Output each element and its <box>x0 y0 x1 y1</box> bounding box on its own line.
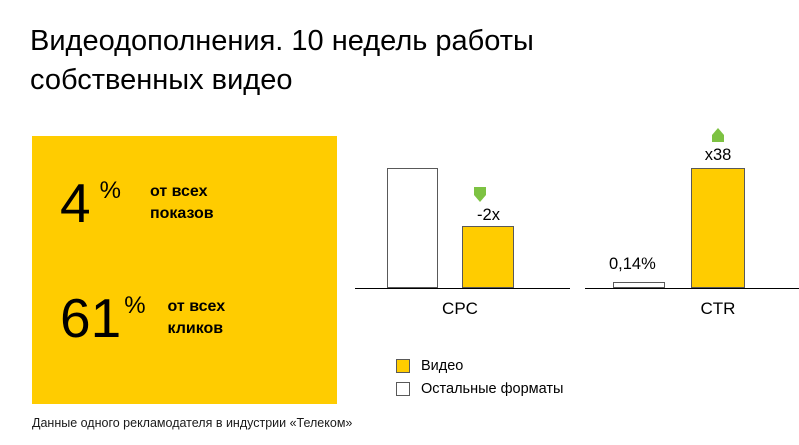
bar-cpc-other-formats <box>387 168 438 288</box>
stat-label-impressions-line1: от всех <box>150 181 214 203</box>
value-label-ctr-other-formats: 0,14% <box>609 254 656 274</box>
legend-swatch-video <box>396 359 410 373</box>
axis-label-ctr: CTR <box>658 298 778 320</box>
stat-label-clicks-line1: от всех <box>168 296 226 318</box>
stat-value-impressions: 4 % <box>60 176 121 230</box>
stats-panel: 4 % от всех показов 61 % от всех кликов <box>32 136 337 404</box>
stat-label-clicks: от всех кликов <box>168 296 226 340</box>
stat-number-clicks: 61 <box>60 291 121 345</box>
legend-swatch-other-formats <box>396 382 410 396</box>
stat-label-impressions: от всех показов <box>150 181 214 225</box>
bar-ctr-other-formats <box>613 282 665 288</box>
legend-item-other-formats: Остальные форматы <box>396 380 563 398</box>
legend-label-video: Видео <box>421 357 463 375</box>
chart-group-cpc: -2x CPC <box>355 110 570 330</box>
axis-label-cpc: CPC <box>400 298 520 320</box>
chart-group-ctr: 0,14% x38 CTR <box>585 110 799 330</box>
bar-cpc-video <box>462 226 514 288</box>
stat-unit-impressions: % <box>100 178 121 204</box>
stat-label-clicks-line2: кликов <box>168 318 226 340</box>
stat-row-impressions: 4 % от всех показов <box>60 176 214 230</box>
legend-item-video: Видео <box>396 357 563 375</box>
axis-baseline-ctr <box>585 288 799 289</box>
legend-label-other-formats: Остальные форматы <box>421 380 563 398</box>
stat-unit-clicks: % <box>124 293 145 319</box>
stat-row-clicks: 61 % от всех кликов <box>60 291 225 345</box>
stat-value-clicks: 61 % <box>60 291 146 345</box>
footnote: Данные одного рекламодателя в индустрии … <box>32 415 352 431</box>
chart-legend: Видео Остальные форматы <box>396 357 563 403</box>
axis-baseline-cpc <box>355 288 570 289</box>
stat-number-impressions: 4 <box>60 176 91 230</box>
annotation-ctr-video: x38 <box>690 145 746 165</box>
page-title: Видеодополнения. 10 недель работы собств… <box>30 22 670 100</box>
stat-label-impressions-line2: показов <box>150 203 214 225</box>
bar-ctr-video <box>691 168 745 288</box>
annotation-cpc-video: -2x <box>461 205 516 225</box>
